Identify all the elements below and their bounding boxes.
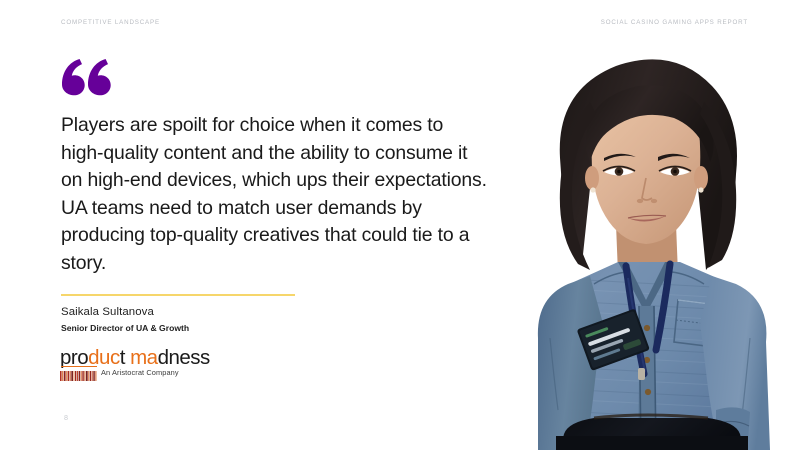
product-madness-logo: product madness <box>60 348 260 384</box>
header-right-label: SOCIAL CASINO GAMING APPS REPORT <box>601 19 748 26</box>
logo-word-part: t <box>120 346 130 369</box>
page-number: 8 <box>64 413 68 422</box>
quote-line: UA teams need to match user demands by <box>61 195 531 223</box>
header-left-label: COMPETITIVE LANDSCAPE <box>61 19 160 26</box>
quote-line: high-quality content and the ability to … <box>61 140 531 168</box>
attribution-role: Senior Director of UA & Growth <box>61 323 189 333</box>
barcode-icon <box>60 368 98 378</box>
quote-text: Players are spoilt for choice when it co… <box>61 112 531 278</box>
quote-line: Players are spoilt for choice when it co… <box>61 112 531 140</box>
logo-accent-underline <box>61 366 97 367</box>
logo-tagline: An Aristocrat Company <box>101 368 179 377</box>
quote-line: story. <box>61 250 531 278</box>
portrait-photo <box>498 38 800 450</box>
logo-word-part: dness <box>158 346 210 369</box>
logo-word-part: ma <box>130 346 157 369</box>
quote-line: producing top-quality creatives that cou… <box>61 222 531 250</box>
attribution-name: Saikala Sultanova <box>61 306 154 318</box>
quote-line: on high-end devices, which ups their exp… <box>61 167 531 195</box>
open-quote-icon <box>59 58 119 104</box>
attribution-divider <box>61 294 295 296</box>
slide-root: COMPETITIVE LANDSCAPE SOCIAL CASINO GAMI… <box>0 0 800 450</box>
